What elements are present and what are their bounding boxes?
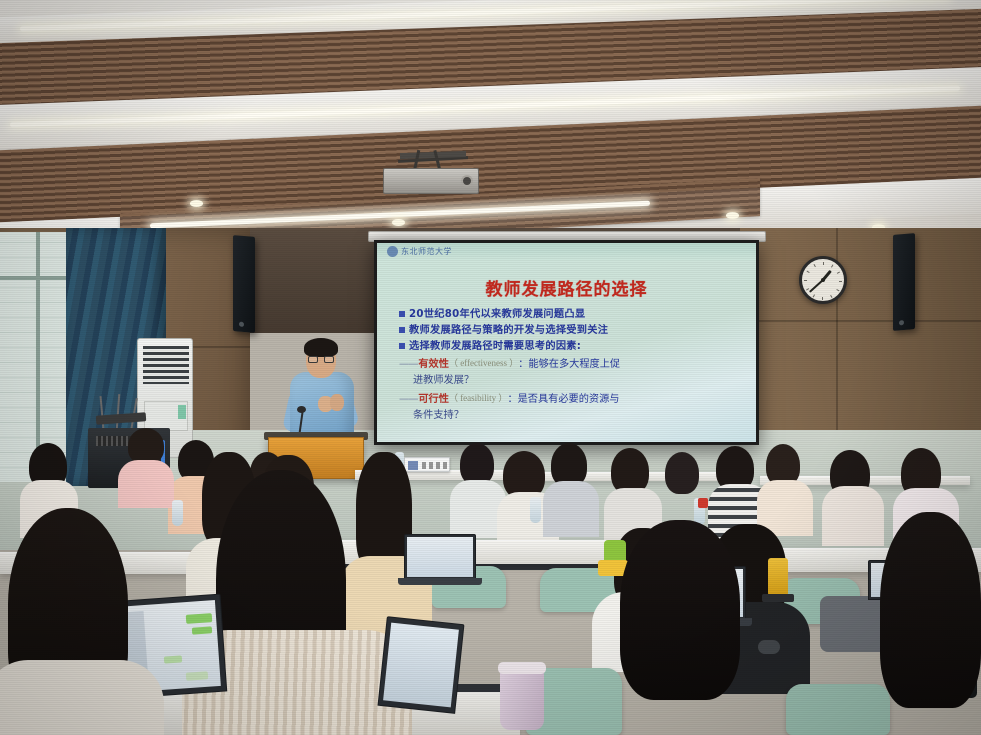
sub-item-term: 可行性: [418, 392, 449, 408]
slide-bullet-text: 20世纪80年代以来教师发展问题凸显: [409, 307, 585, 323]
ac-grille-icon: [143, 346, 189, 384]
university-seal-icon: [387, 246, 398, 257]
slide-bullet: 教师发展路径与策略的开发与选择受到关注: [399, 323, 742, 339]
wall-speaker-left: [233, 235, 255, 333]
slide-bullet: 20世纪80年代以来教师发展问题凸显: [399, 307, 742, 323]
bullet-square-icon: [399, 327, 405, 333]
slide-bullet: 选择教师发展路径时需要思考的因素:: [399, 339, 742, 355]
audience-torso: [822, 486, 884, 546]
water-bottle: [530, 497, 541, 523]
slide-sub-item: —— 有效性 （ effectiveness ） ： 能够在多大程度上促 进教师…: [399, 357, 742, 389]
cosmetic-bottle: [768, 558, 788, 596]
speaker-indicator: [239, 322, 244, 327]
computer-mouse[interactable]: [758, 640, 780, 654]
wall-clock: [799, 256, 847, 304]
microphone-capsule: [297, 406, 306, 413]
sub-item-dash: ——: [399, 392, 417, 408]
lecture-hall-photo: 东北师范大学 教师发展路径的选择 20世纪80年代以来教师发展问题凸显 教师发展…: [0, 0, 981, 735]
presenter-hand: [330, 394, 344, 411]
projector-lens: [461, 175, 473, 187]
projection-screen: 东北师范大学 教师发展路径的选择 20世纪80年代以来教师发展问题凸显 教师发展…: [374, 240, 759, 445]
clock-center-pin: [821, 278, 825, 282]
wall-seam: [740, 320, 981, 322]
ceiling: [0, 0, 981, 232]
slide-body: 20世纪80年代以来教师发展问题凸显 教师发展路径与策略的开发与选择受到关注 选…: [399, 307, 742, 424]
speaker-indicator: [899, 320, 904, 325]
sub-item-separator: ：: [507, 392, 517, 408]
audience-head: [460, 443, 494, 485]
audience-torso: [0, 660, 164, 735]
table-name-card: [404, 457, 450, 472]
coffee-tumbler: [500, 668, 544, 730]
sub-item-text: 是否具有必要的资源与: [518, 392, 620, 408]
ceiling-projector: [383, 168, 479, 194]
presenter-hair: [304, 338, 338, 357]
name-card-logo-icon: [408, 461, 418, 470]
ac-status-light: [178, 405, 186, 419]
sub-item-english: （ feasibility ）: [449, 392, 508, 406]
sub-item-separator: ：: [518, 357, 528, 373]
chat-bubble: [186, 613, 213, 624]
bottle-stand: [762, 594, 794, 602]
slide-bullet-text: 选择教师发展路径时需要思考的因素:: [409, 339, 581, 355]
bullet-square-icon: [399, 311, 405, 317]
sub-item-english: （ effectiveness ）: [449, 357, 518, 371]
university-name: 东北师范大学: [401, 246, 452, 257]
water-bottle: [172, 500, 183, 526]
chair-back[interactable]: [786, 684, 890, 735]
audience-head: [665, 452, 699, 494]
chat-bubble: [186, 671, 209, 681]
name-card-text: [422, 462, 447, 469]
downlight: [392, 219, 405, 226]
audience-head: [620, 520, 740, 700]
presentation-slide: 东北师范大学 教师发展路径的选择 20世纪80年代以来教师发展问题凸显 教师发展…: [377, 243, 756, 442]
audience-torso: [118, 460, 174, 508]
audience-torso: [543, 481, 599, 537]
glasses-icon: [308, 356, 334, 363]
sub-item-text: 能够在多大程度上促: [528, 357, 620, 373]
slide-title: 教师发展路径的选择: [377, 275, 756, 300]
bottle-cap: [698, 498, 708, 508]
wall-speaker-right: [893, 233, 915, 331]
chat-bubble: [164, 655, 182, 663]
bullet-square-icon: [399, 343, 405, 349]
downlight: [190, 200, 203, 207]
university-logo: 东北师范大学: [387, 246, 452, 257]
tumbler-lid: [498, 662, 546, 674]
sub-item-term: 有效性: [418, 357, 449, 373]
slide-sub-item: —— 可行性 （ feasibility ） ： 是否具有必要的资源与 条件支持…: [399, 392, 742, 424]
audience-head: [880, 512, 981, 708]
downlight: [726, 212, 739, 219]
slide-bullet-text: 教师发展路径与策略的开发与选择受到关注: [409, 323, 608, 339]
sub-item-continuation: 进教师发展？: [413, 373, 742, 389]
sub-item-continuation: 条件支持？: [413, 408, 742, 424]
chat-bubble: [192, 626, 212, 634]
sub-item-dash: ——: [399, 357, 417, 373]
audience-head: [128, 428, 164, 464]
